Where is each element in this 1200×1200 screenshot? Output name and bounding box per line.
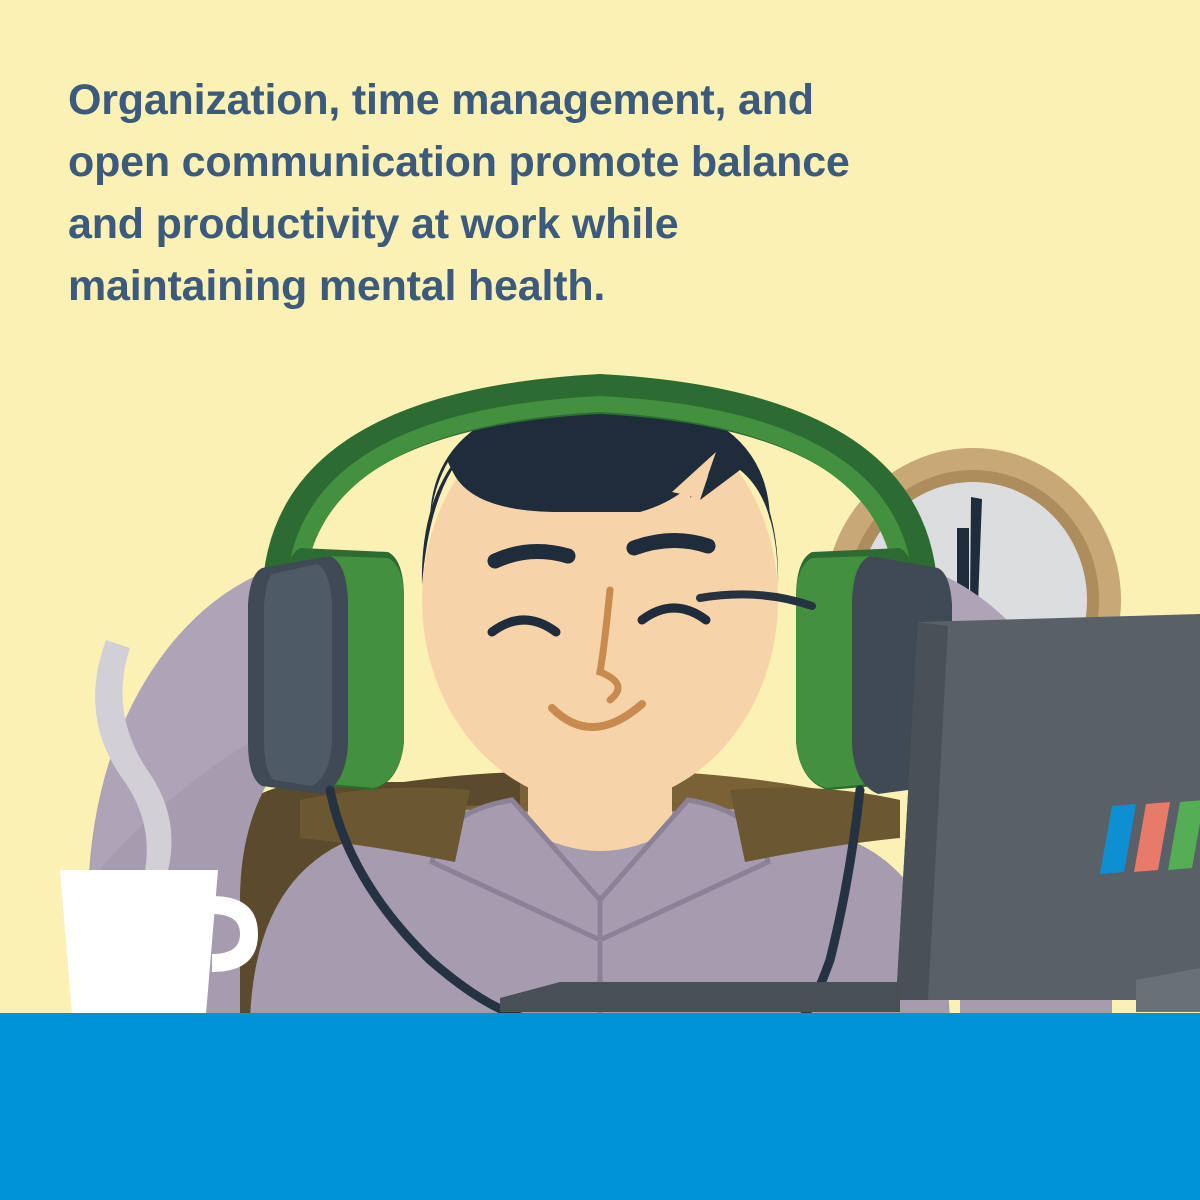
bottom-banner: #mentalhealth #COVID19 #coronavirus <box>0 1013 1200 1200</box>
eyebrow-right <box>634 540 708 548</box>
poster-canvas: Organization, time management, and open … <box>0 0 1200 1200</box>
headline-text: Organization, time management, and open … <box>68 70 898 318</box>
laptop-sticker <box>1100 800 1200 874</box>
laptop-base <box>500 982 900 1012</box>
mug-body <box>60 870 218 1014</box>
earcup-left-pad-light <box>264 564 332 786</box>
earcup-left <box>248 548 404 794</box>
